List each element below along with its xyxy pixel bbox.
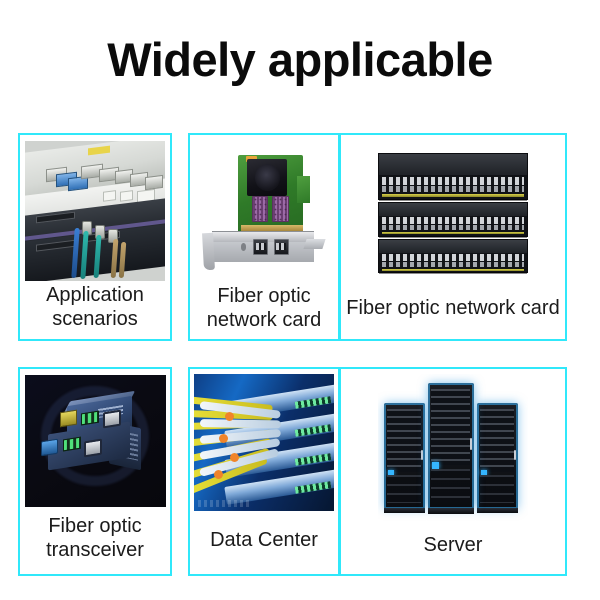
caption-server: Server	[341, 521, 565, 574]
application-scenarios-image	[25, 141, 165, 281]
application-grid: Application scenarios Fiber optic netw	[18, 133, 584, 576]
grid-cell-fiber-optic-network-card-1[interactable]: Fiber optic network card	[188, 133, 340, 341]
fiber-optic-network-card-image-1	[195, 139, 333, 282]
image-watermark	[198, 500, 251, 507]
caption-application-scenarios: Application scenarios	[20, 281, 170, 339]
caption-fiber-optic-network-card-2: Fiber optic network card	[341, 282, 565, 339]
grid-cell-fiber-optic-transceiver[interactable]: Fiber optic transceiver	[18, 367, 172, 576]
caption-fiber-optic-transceiver: Fiber optic transceiver	[20, 507, 170, 574]
grid-cell-data-center[interactable]: Data Center	[188, 367, 340, 576]
server-image	[378, 374, 528, 521]
caption-fiber-optic-network-card-1: Fiber optic network card	[190, 282, 338, 339]
data-center-image	[194, 374, 334, 511]
fiber-optic-transceiver-image	[25, 375, 166, 507]
grid-cell-server[interactable]: Server	[339, 367, 567, 576]
widely-applicable-poster: Widely applicable	[0, 0, 600, 600]
page-title: Widely applicable	[0, 36, 600, 83]
fiber-optic-network-card-image-2	[368, 140, 538, 282]
grid-cell-fiber-optic-network-card-2[interactable]: Fiber optic network card	[339, 133, 567, 341]
grid-cell-application-scenarios[interactable]: Application scenarios	[18, 133, 172, 341]
caption-data-center: Data Center	[190, 511, 338, 574]
